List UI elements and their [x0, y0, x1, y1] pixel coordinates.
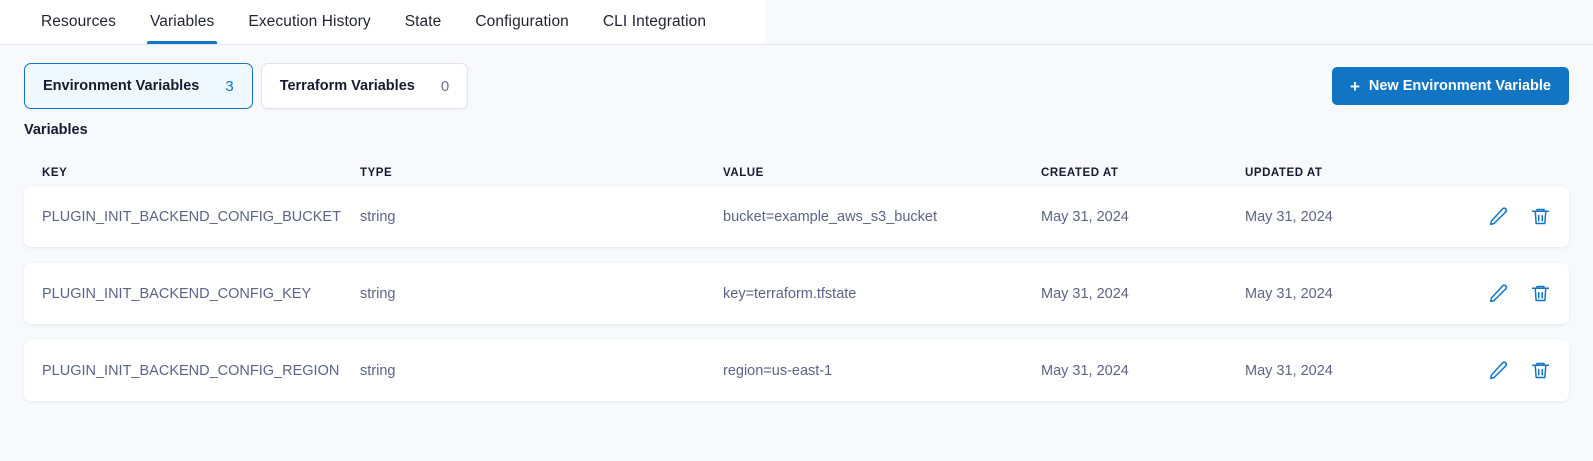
variables-toolbar: Environment Variables 3 Terraform Variab…: [24, 63, 1569, 109]
segment-terraform-variables[interactable]: Terraform Variables 0: [261, 63, 468, 109]
edit-pencil-icon[interactable]: [1487, 206, 1509, 228]
cell-value: region=us-east-1: [723, 363, 1041, 379]
row-actions: [1445, 206, 1551, 228]
cell-updated-at: May 31, 2024: [1245, 286, 1445, 302]
edit-pencil-icon[interactable]: [1487, 283, 1509, 305]
column-header-type: TYPE: [360, 167, 723, 179]
tab-variables[interactable]: Variables: [133, 0, 231, 44]
new-environment-variable-button-label: New Environment Variable: [1369, 78, 1551, 94]
column-header-value: VALUE: [723, 167, 1041, 179]
cell-created-at: May 31, 2024: [1041, 363, 1245, 379]
segment-environment-variables[interactable]: Environment Variables 3: [24, 63, 253, 109]
column-header-updated-at: UPDATED AT: [1245, 167, 1445, 179]
cell-type: string: [360, 286, 723, 302]
variable-type-selector: Environment Variables 3 Terraform Variab…: [24, 63, 468, 109]
cell-value: bucket=example_aws_s3_bucket: [723, 209, 1041, 225]
tab-state-label: State: [405, 13, 442, 31]
cell-key: PLUGIN_INIT_BACKEND_CONFIG_KEY: [42, 286, 360, 302]
tab-execution-history-label: Execution History: [248, 13, 370, 31]
segment-environment-variables-label: Environment Variables: [43, 78, 199, 94]
cell-created-at: May 31, 2024: [1041, 209, 1245, 225]
new-environment-variable-button[interactable]: + New Environment Variable: [1332, 67, 1569, 105]
variables-table: KEY TYPE VALUE CREATED AT UPDATED AT PLU…: [24, 160, 1569, 401]
variables-page: Environment Variables 3 Terraform Variab…: [0, 45, 1593, 401]
tab-configuration-label: Configuration: [475, 13, 569, 31]
tab-execution-history[interactable]: Execution History: [231, 0, 387, 44]
topnav-tab-list: Resources Variables Execution History St…: [0, 0, 1593, 44]
trash-delete-icon[interactable]: [1529, 360, 1551, 382]
cell-updated-at: May 31, 2024: [1245, 209, 1445, 225]
column-header-key: KEY: [42, 167, 360, 179]
trash-delete-icon[interactable]: [1529, 206, 1551, 228]
top-tab-navigation: Resources Variables Execution History St…: [0, 0, 1593, 45]
edit-pencil-icon[interactable]: [1487, 360, 1509, 382]
tab-configuration[interactable]: Configuration: [458, 0, 586, 44]
table-row[interactable]: PLUGIN_INIT_BACKEND_CONFIG_REGION string…: [24, 340, 1569, 401]
cell-value: key=terraform.tfstate: [723, 286, 1041, 302]
page-title: Variables: [24, 122, 1569, 138]
column-header-created-at: CREATED AT: [1041, 167, 1245, 179]
tab-cli-integration[interactable]: CLI Integration: [586, 0, 723, 44]
plus-icon: +: [1350, 78, 1360, 95]
cell-created-at: May 31, 2024: [1041, 286, 1245, 302]
cell-key: PLUGIN_INIT_BACKEND_CONFIG_BUCKET: [42, 209, 360, 225]
trash-delete-icon[interactable]: [1529, 283, 1551, 305]
table-header-row: KEY TYPE VALUE CREATED AT UPDATED AT: [24, 160, 1569, 186]
tab-state[interactable]: State: [388, 0, 459, 44]
table-row[interactable]: PLUGIN_INIT_BACKEND_CONFIG_KEY string ke…: [24, 263, 1569, 324]
tab-resources[interactable]: Resources: [24, 0, 133, 44]
table-row[interactable]: PLUGIN_INIT_BACKEND_CONFIG_BUCKET string…: [24, 186, 1569, 247]
row-actions: [1445, 360, 1551, 382]
segment-terraform-variables-label: Terraform Variables: [280, 78, 415, 94]
cell-key: PLUGIN_INIT_BACKEND_CONFIG_REGION: [42, 363, 360, 379]
tab-variables-label: Variables: [150, 13, 214, 31]
cell-type: string: [360, 363, 723, 379]
cell-updated-at: May 31, 2024: [1245, 363, 1445, 379]
tab-cli-integration-label: CLI Integration: [603, 13, 706, 31]
tab-resources-label: Resources: [41, 13, 116, 31]
segment-terraform-variables-count: 0: [441, 78, 449, 95]
row-actions: [1445, 283, 1551, 305]
segment-environment-variables-count: 3: [225, 78, 233, 95]
cell-type: string: [360, 209, 723, 225]
